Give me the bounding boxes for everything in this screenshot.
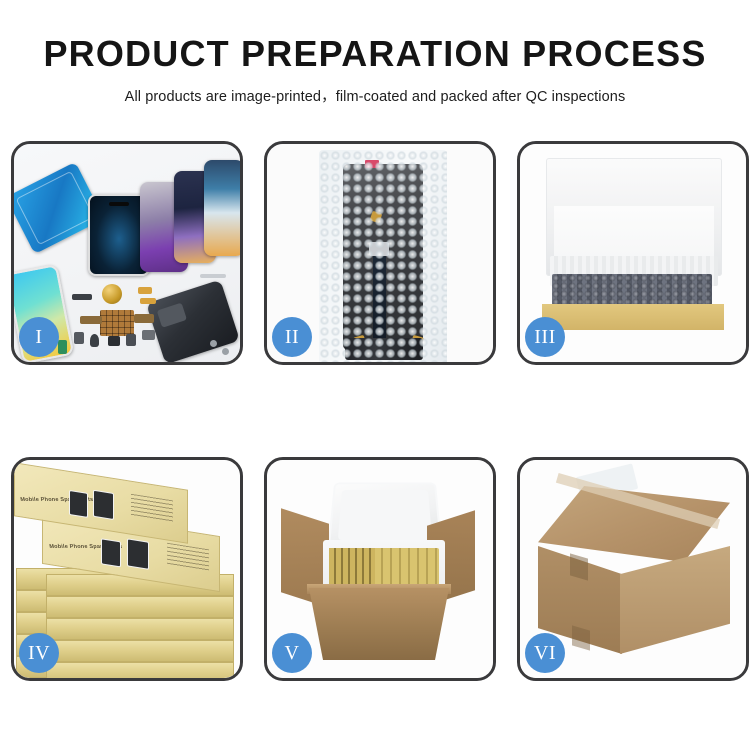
step-badge-6: VI bbox=[525, 633, 565, 673]
screw-part bbox=[210, 340, 217, 347]
box-print-phone-graphic bbox=[101, 538, 121, 567]
carton-seam-tab bbox=[572, 625, 590, 650]
process-step-card-3: III bbox=[517, 141, 749, 365]
spare-part bbox=[74, 332, 84, 344]
step-badge-5: V bbox=[272, 633, 312, 673]
spare-part bbox=[90, 334, 99, 347]
header: PRODUCT PREPARATION PROCESS All products… bbox=[0, 34, 750, 106]
page-subtitle: All products are image-printed，film-coat… bbox=[0, 85, 750, 106]
chip-grid-part bbox=[100, 310, 134, 336]
spare-part bbox=[138, 287, 152, 294]
process-step-card-1: I bbox=[11, 141, 243, 365]
stacked-box bbox=[46, 640, 234, 662]
page-title: PRODUCT PREPARATION PROCESS bbox=[0, 34, 750, 74]
box-print-text-lines bbox=[167, 543, 209, 572]
spare-part bbox=[200, 274, 226, 278]
spare-part bbox=[142, 330, 155, 340]
carton-body bbox=[309, 588, 449, 660]
product-preparation-infographic: PRODUCT PREPARATION PROCESS All products… bbox=[0, 0, 750, 750]
process-step-card-2: II bbox=[264, 141, 496, 365]
step-badge-1: I bbox=[19, 317, 59, 357]
step-badge-3: III bbox=[525, 317, 565, 357]
stacked-box bbox=[46, 662, 234, 678]
bubble-wrapped-contents bbox=[552, 274, 712, 308]
box-print-phone-graphic bbox=[93, 490, 114, 520]
bubble-texture bbox=[319, 150, 447, 362]
spare-part bbox=[58, 340, 67, 354]
step-badge-4: IV bbox=[19, 633, 59, 673]
screw-part bbox=[222, 348, 229, 355]
box-print-phone-graphic bbox=[69, 490, 88, 518]
spare-part bbox=[134, 314, 154, 323]
spare-part bbox=[80, 316, 102, 324]
yellow-box-front-panel bbox=[542, 304, 724, 330]
spare-part bbox=[108, 336, 120, 346]
spare-part bbox=[140, 298, 156, 304]
spare-part bbox=[126, 334, 136, 346]
spare-part bbox=[72, 294, 92, 300]
process-step-card-4: Mobile Phone Spare Parts Mobile Phone Sp… bbox=[11, 457, 243, 681]
process-step-card-6: VI bbox=[517, 457, 749, 681]
copper-coil-part bbox=[102, 284, 122, 304]
bubble-wrap-package bbox=[319, 150, 447, 362]
gradient-phone-screen bbox=[204, 160, 240, 256]
box-print-phone-graphic bbox=[127, 538, 149, 569]
box-print-text-lines bbox=[131, 494, 173, 523]
step-badge-2: II bbox=[272, 317, 312, 357]
process-step-grid: I II bbox=[11, 141, 741, 681]
carton-right-face bbox=[620, 546, 730, 654]
process-step-card-5: V bbox=[264, 457, 496, 681]
stacked-box bbox=[46, 618, 234, 640]
stacked-box bbox=[46, 596, 234, 618]
